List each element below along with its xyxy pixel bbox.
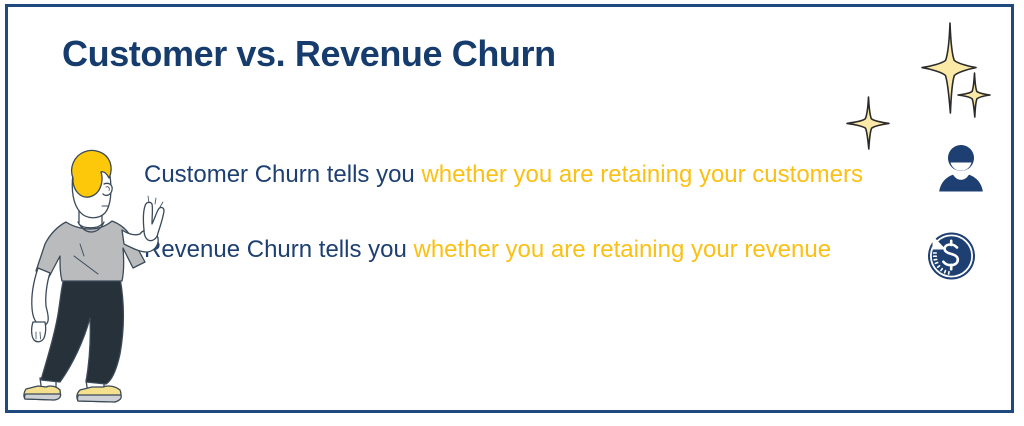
left-hand bbox=[32, 322, 46, 342]
shirt bbox=[36, 221, 145, 281]
statement-customer-highlight: whether you are retaining your customers bbox=[421, 161, 863, 188]
statement-revenue-highlight: whether you are retaining your revenue bbox=[413, 236, 831, 263]
statement-revenue-churn: Revenue Churn tells you whether you are … bbox=[144, 238, 831, 262]
right-hand bbox=[143, 202, 164, 240]
statement-customer-churn: Customer Churn tells you whether you are… bbox=[144, 163, 863, 187]
far-shoe-sole bbox=[25, 394, 61, 400]
sparkle-small-icon bbox=[957, 72, 991, 118]
page-title: Customer vs. Revenue Churn bbox=[62, 33, 556, 75]
pants bbox=[41, 278, 123, 384]
left-arm bbox=[32, 268, 50, 326]
statement-revenue-lead: Revenue Churn tells you bbox=[144, 236, 413, 263]
near-shoe-sole bbox=[77, 395, 121, 402]
ear bbox=[103, 183, 112, 195]
standing-person-illustration bbox=[16, 140, 166, 420]
sparkle-mid-icon bbox=[846, 96, 890, 150]
person-icon bbox=[935, 142, 987, 194]
slide-canvas: Customer vs. Revenue Churn Customer Chur… bbox=[0, 0, 1024, 426]
finger-tick-3 bbox=[160, 202, 163, 207]
revenue-circle-dollar-icon bbox=[921, 226, 979, 284]
statement-customer-lead: Customer Churn tells you bbox=[144, 161, 421, 188]
finger-tick-2 bbox=[155, 198, 156, 204]
